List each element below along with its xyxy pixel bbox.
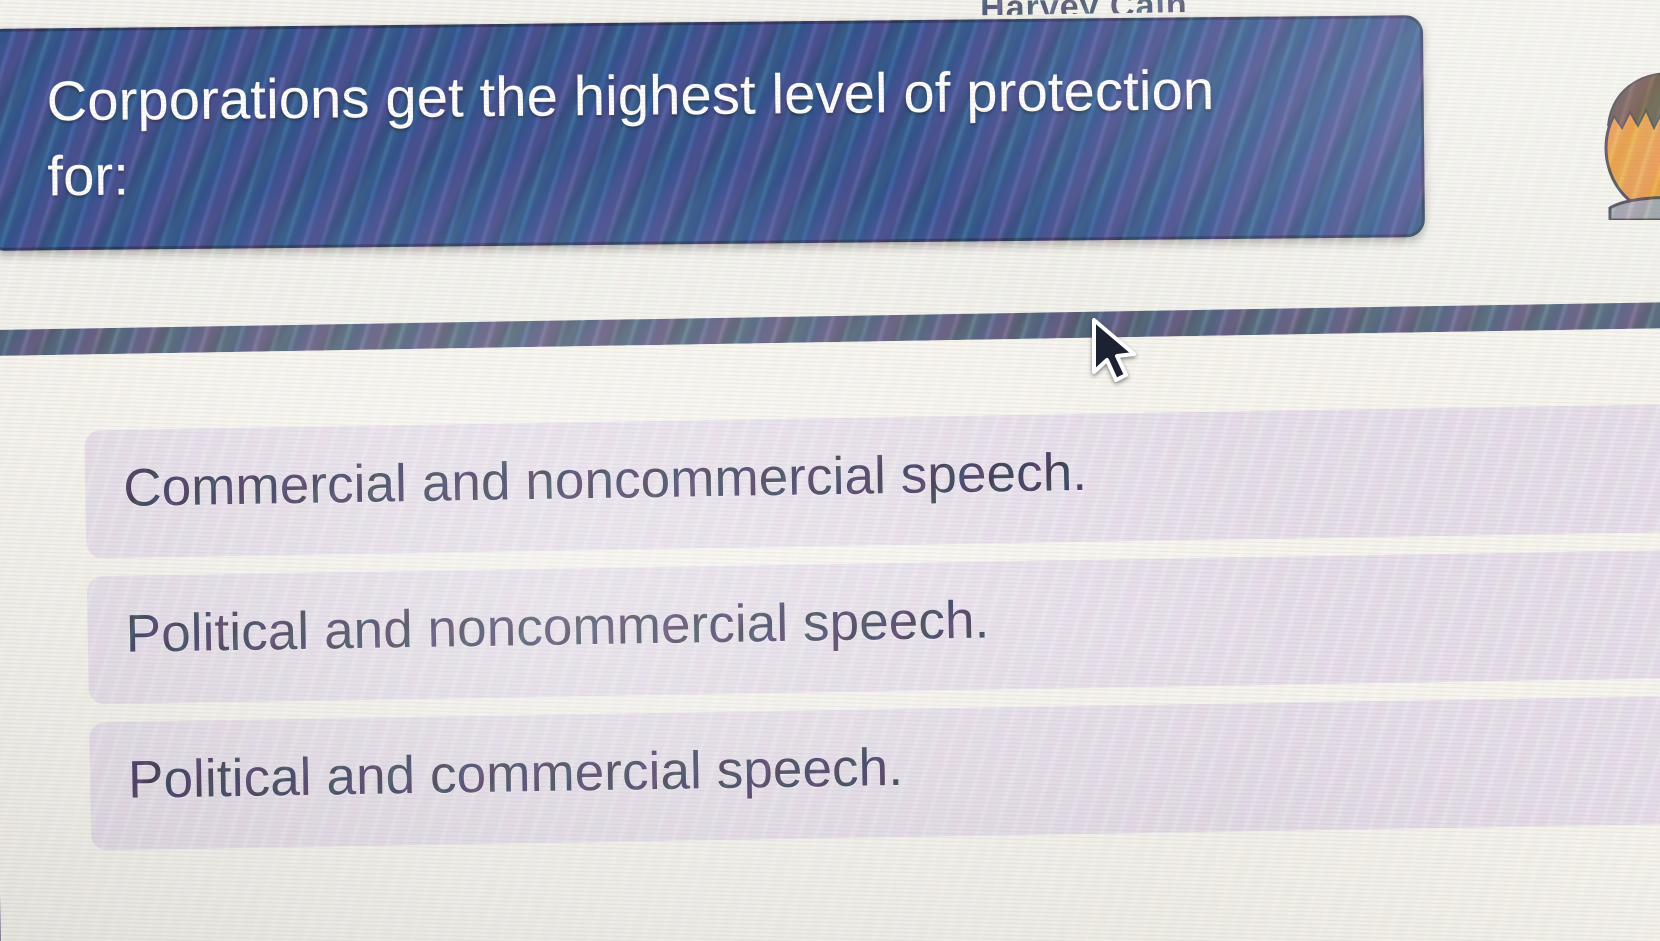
answers-panel: Commercial and noncommercial speech. Pol… bbox=[0, 302, 1660, 941]
answer-option-1-label: Commercial and noncommercial speech. bbox=[123, 442, 1088, 519]
panel-body: Commercial and noncommercial speech. Pol… bbox=[0, 328, 1660, 941]
answer-option-2[interactable]: Political and noncommercial speech. bbox=[87, 549, 1660, 705]
question-text: Corporations get the highest level of pr… bbox=[46, 52, 1267, 214]
screenshot-root: Harvey Cain Corporations get the highest… bbox=[0, 0, 1660, 941]
answer-option-2-label: Political and noncommercial speech. bbox=[125, 589, 990, 664]
answer-option-3[interactable]: Political and commercial speech. bbox=[89, 695, 1660, 851]
mouse-pointer-icon bbox=[1088, 318, 1140, 384]
question-banner: Corporations get the highest level of pr… bbox=[0, 15, 1425, 251]
answer-option-3-label: Political and commercial speech. bbox=[128, 737, 904, 811]
answer-option-1[interactable]: Commercial and noncommercial speech. bbox=[84, 403, 1660, 559]
student-avatar bbox=[1588, 60, 1660, 220]
